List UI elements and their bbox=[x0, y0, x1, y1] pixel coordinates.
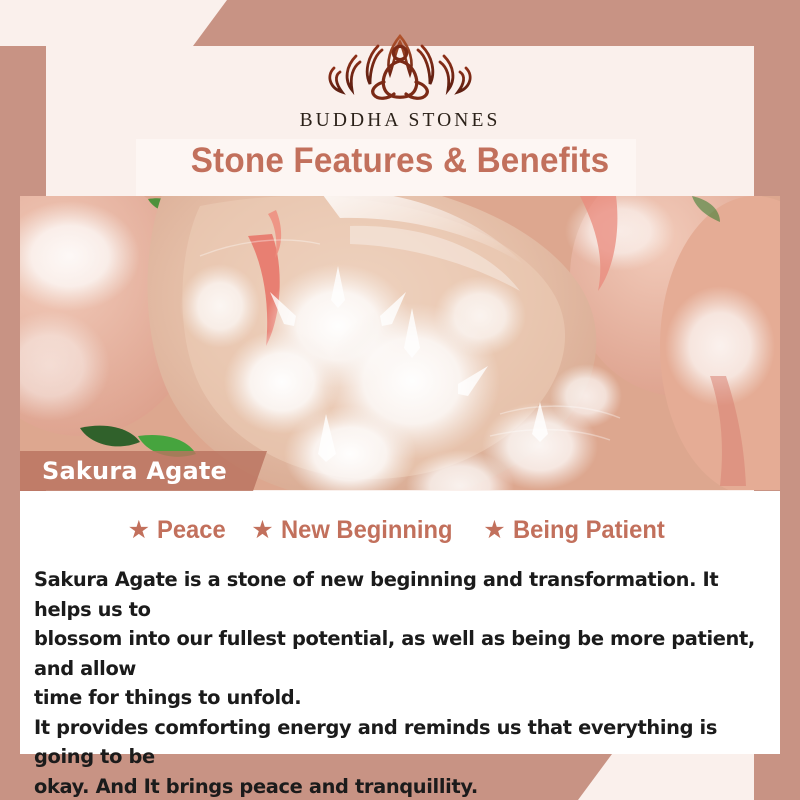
description-line: time for things to unfold. bbox=[34, 683, 770, 713]
product-photo bbox=[20, 196, 780, 490]
description-line: Sakura Agate is a stone of new beginning… bbox=[34, 565, 770, 624]
feature-label: Being Patient bbox=[513, 516, 665, 545]
description-line: It provides comforting energy and remind… bbox=[34, 713, 770, 772]
star-icon: ★ bbox=[128, 518, 150, 543]
description-line: okay. And It brings peace and tranquilli… bbox=[34, 772, 770, 800]
feature-item-peace: ★ Peace bbox=[128, 516, 230, 545]
description-line: blossom into our fullest potential, as w… bbox=[34, 624, 770, 683]
brand-logo: BUDDHA STONES bbox=[0, 22, 800, 142]
star-icon: ★ bbox=[251, 518, 273, 543]
feature-item-new-beginning: ★ New Beginning bbox=[251, 516, 461, 545]
description-text: Sakura Agate is a stone of new beginning… bbox=[34, 565, 770, 800]
agate-stone-image bbox=[20, 196, 780, 490]
product-label: Sakura Agate bbox=[42, 457, 227, 485]
lotus-meditation-figure-icon bbox=[312, 22, 488, 108]
infographic-card: BUDDHA STONES Stone Features & Benefits bbox=[0, 0, 800, 800]
product-label-banner: Sakura Agate bbox=[20, 451, 267, 491]
feature-label: Peace bbox=[157, 516, 226, 545]
feature-item-being-patient: ★ Being Patient bbox=[483, 516, 672, 545]
features-list: ★ Peace ★ New Beginning ★ Being Patient bbox=[0, 516, 800, 545]
feature-label: New Beginning bbox=[281, 516, 453, 545]
page-title: Stone Features & Benefits bbox=[20, 141, 780, 181]
brand-name: BUDDHA STONES bbox=[300, 110, 501, 132]
star-icon: ★ bbox=[483, 518, 505, 543]
